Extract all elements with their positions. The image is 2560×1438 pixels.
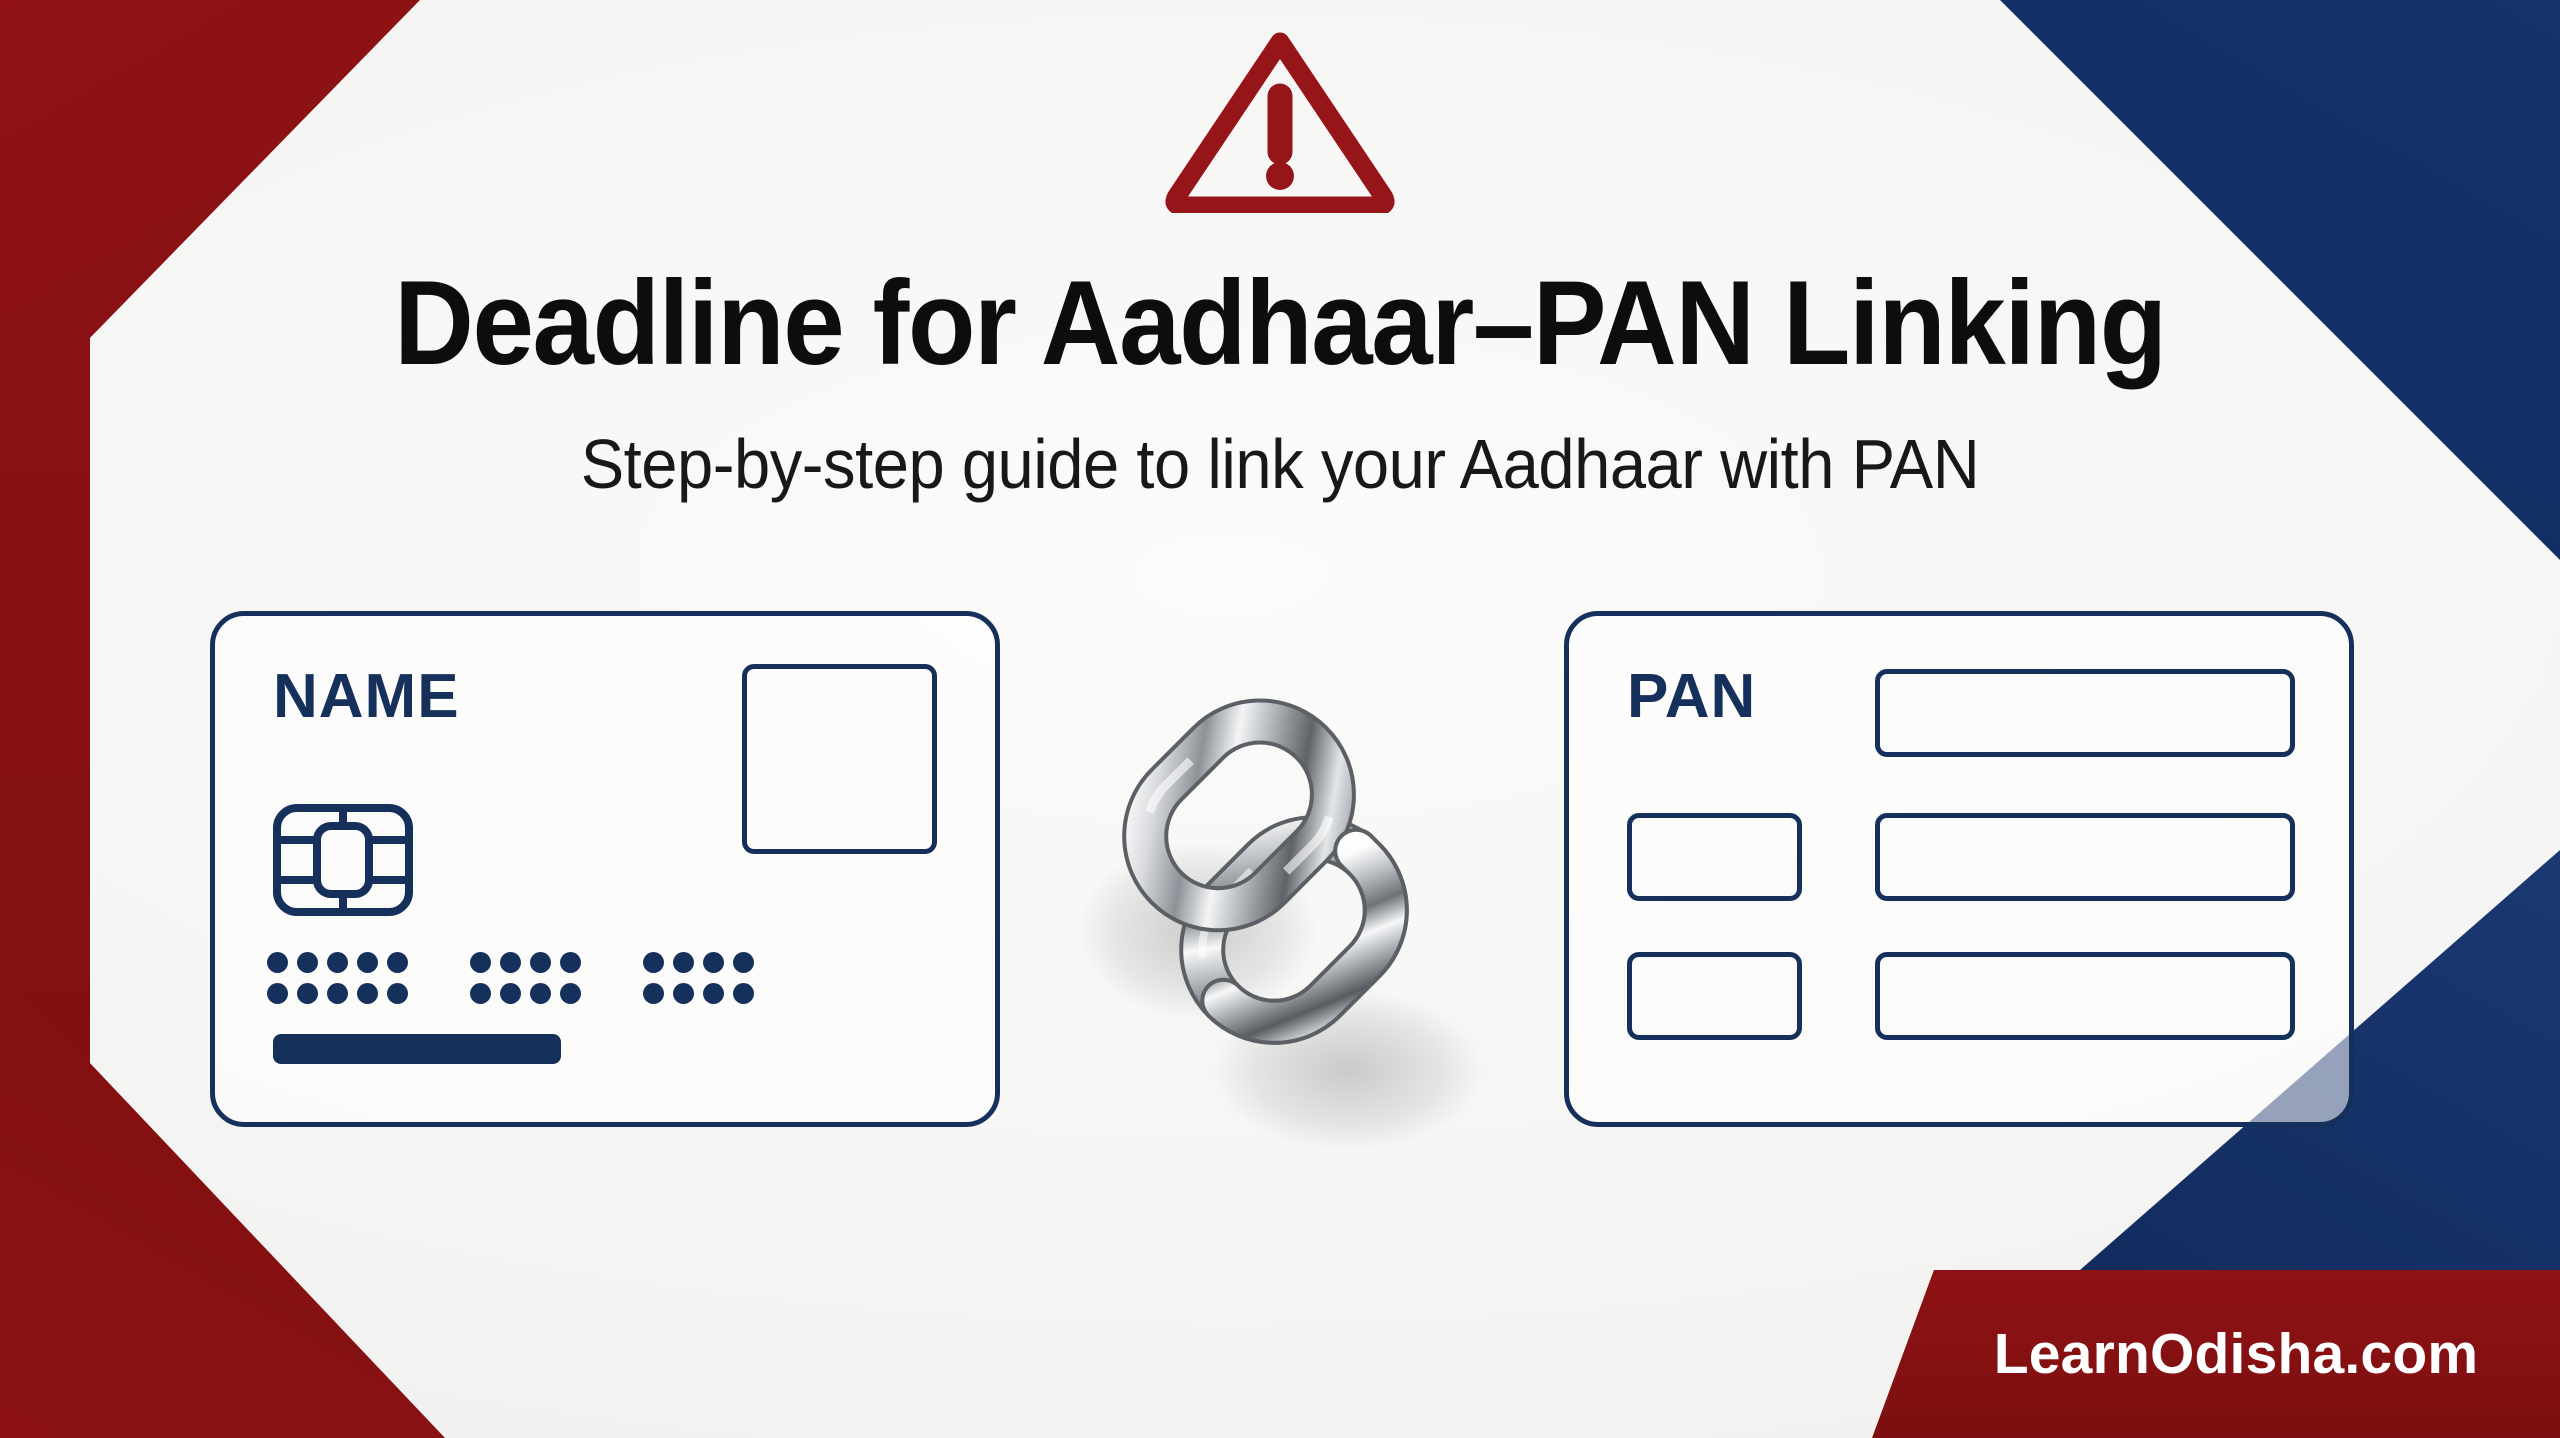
dot (357, 952, 378, 973)
dot (327, 983, 348, 1004)
detail-field-right-2 (1875, 952, 2295, 1040)
dot (357, 983, 378, 1004)
dot (297, 983, 318, 1004)
pan-card[interactable]: PAN (1564, 611, 2354, 1127)
poster-canvas: Deadline for Aadhaar–PAN Linking Step-by… (0, 0, 2560, 1438)
detail-field-left-2 (1627, 952, 1802, 1040)
aadhaar-number-dots (267, 952, 754, 1004)
watermark-badge: LearnOdisha.com (1872, 1270, 2560, 1438)
smart-card-chip-icon (273, 804, 413, 916)
detail-field-left-1 (1627, 813, 1802, 901)
chain-link-upper (1115, 691, 1363, 939)
dot (297, 952, 318, 973)
dot (530, 952, 551, 973)
dot (530, 983, 551, 1004)
dot (673, 983, 694, 1004)
dot (703, 983, 724, 1004)
dot (500, 983, 521, 1004)
page-title: Deadline for Aadhaar–PAN Linking (102, 262, 2457, 384)
dot (733, 983, 754, 1004)
dot (500, 952, 521, 973)
dot (673, 952, 694, 973)
dot (387, 952, 408, 973)
dot (267, 952, 288, 973)
watermark-text: LearnOdisha.com (1954, 1321, 2478, 1387)
dot (703, 952, 724, 973)
dot (387, 983, 408, 1004)
dot (643, 952, 664, 973)
pan-label: PAN (1627, 666, 1756, 728)
dot-group-2 (470, 952, 581, 1004)
dot (470, 952, 491, 973)
pan-number-field (1875, 669, 2295, 757)
dot (470, 983, 491, 1004)
dot (327, 952, 348, 973)
aadhaar-photo-placeholder (742, 664, 937, 854)
dot (733, 952, 754, 973)
aadhaar-card[interactable]: NAME (210, 611, 1000, 1127)
chain-link-icon (1048, 600, 1518, 1150)
detail-field-right-1 (1875, 813, 2295, 901)
dot (643, 983, 664, 1004)
warning-triangle-icon (1165, 28, 1395, 213)
warning-icon-container (0, 28, 2560, 213)
aadhaar-name-label: NAME (273, 666, 460, 728)
dot (267, 983, 288, 1004)
dot-group-1 (267, 952, 408, 1004)
dot (560, 983, 581, 1004)
dot (560, 952, 581, 973)
dot-group-3 (643, 952, 754, 1004)
aadhaar-name-bar (273, 1034, 561, 1064)
page-subtitle: Step-by-step guide to link your Aadhaar … (90, 424, 2471, 504)
